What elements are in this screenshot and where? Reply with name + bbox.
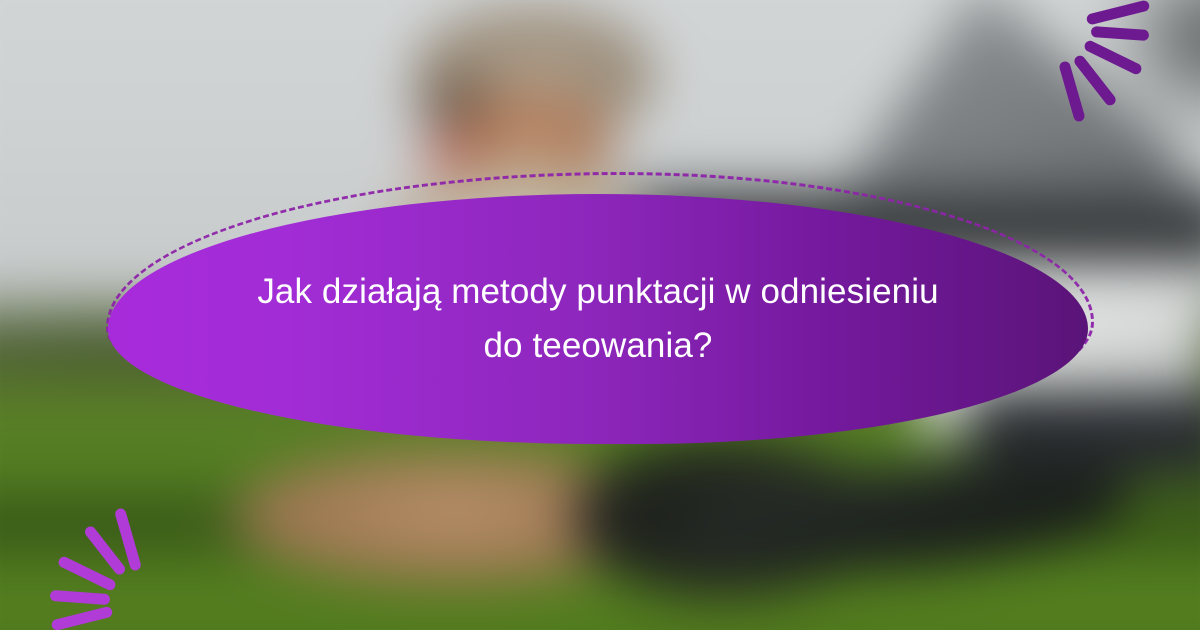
sparkle-stroke	[1086, 0, 1151, 26]
sparkle-burst-top-right	[1024, 4, 1194, 164]
sparkle-stroke	[1091, 26, 1150, 41]
headline-card: Jak działają metody punktacji w odniesie…	[98, 178, 1102, 450]
sparkle-burst-bottom-left	[4, 464, 174, 624]
sparkle-stroke	[50, 590, 111, 605]
page-title: Jak działają metody punktacji w odniesie…	[257, 265, 938, 374]
background-golf-ball	[1088, 570, 1167, 623]
poster-canvas: Jak działają metody punktacji w odniesie…	[0, 0, 1200, 630]
headline-line-1: Jak działają metody punktacji w odniesie…	[257, 265, 938, 319]
headline-line-2: do teeowania?	[257, 319, 938, 373]
